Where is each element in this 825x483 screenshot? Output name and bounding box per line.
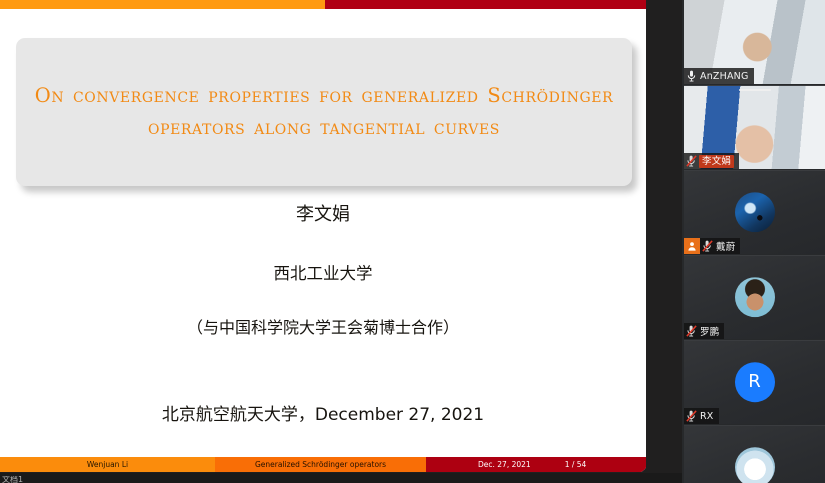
participant-name: 罗鹏 <box>699 324 719 338</box>
top-bar-red-segment <box>325 0 646 9</box>
slide-footline: Wenjuan Li Generalized Schrödinger opera… <box>0 457 646 472</box>
slide-affiliation: 西北工业大学 <box>0 260 646 284</box>
avatar <box>735 277 775 317</box>
participant-name: 戴蔚 <box>715 239 735 253</box>
participant-name-badge: 罗鹏 <box>684 323 724 339</box>
footline-date-page: Dec. 27, 2021 1 / 54 <box>426 457 646 472</box>
page-title: On convergence properties for generalize… <box>30 80 618 143</box>
slide-top-gap <box>0 9 646 12</box>
presentation-slide[interactable]: On convergence properties for generalize… <box>0 0 646 472</box>
avatar: R <box>735 362 775 402</box>
microphone-muted-icon <box>684 153 699 169</box>
microphone-icon <box>684 68 699 84</box>
taskbar-clipped-label: 文档1 <box>2 476 88 483</box>
participant-name: 李文娟 <box>699 155 734 168</box>
slide-body: 李文娟 西北工业大学 （与中国科学院大学王会菊博士合作） 北京航空航天大学，De… <box>0 200 646 425</box>
slide-top-decoration <box>0 0 646 9</box>
slide-collaboration-note: （与中国科学院大学王会菊博士合作） <box>0 314 646 338</box>
participant-filmstrip[interactable]: AnZHANG 李文娟 <box>682 0 825 483</box>
footline-author: Wenjuan Li <box>0 457 215 472</box>
participant-name-badge: 戴蔚 <box>684 238 740 254</box>
avatar <box>735 447 775 483</box>
active-speaker-indicator <box>739 89 771 91</box>
participant-name-badge: RX <box>684 408 719 424</box>
microphone-muted-icon <box>684 408 699 424</box>
avatar <box>735 192 775 232</box>
participant-tile[interactable]: R RX <box>684 340 825 424</box>
shared-screen-region[interactable]: On convergence properties for generalize… <box>0 0 648 473</box>
footline-page-number: 1 / 54 <box>565 460 587 469</box>
participant-name: AnZHANG <box>699 71 749 82</box>
slide-title-box: On convergence properties for generalize… <box>16 38 632 186</box>
participant-tile[interactable] <box>684 425 825 483</box>
participant-tile[interactable]: 罗鹏 <box>684 255 825 339</box>
slide-venue-date: 北京航空航天大学，December 27, 2021 <box>0 400 646 425</box>
slide-author: 李文娟 <box>0 200 646 226</box>
microphone-muted-icon <box>700 238 715 254</box>
participant-tile[interactable]: 戴蔚 <box>684 170 825 254</box>
host-person-icon <box>684 238 700 254</box>
footline-date: Dec. 27, 2021 <box>478 460 531 469</box>
participant-tile[interactable]: 李文娟 <box>684 85 825 169</box>
desktop-taskbar-strip: 文档1 <box>0 473 682 483</box>
top-bar-orange-segment <box>0 0 325 9</box>
footline-short-title: Generalized Schrödinger operators <box>215 457 426 472</box>
meeting-window: On convergence properties for generalize… <box>0 0 825 483</box>
participant-name-badge: AnZHANG <box>684 68 754 84</box>
microphone-muted-icon <box>684 323 699 339</box>
participant-name: RX <box>699 411 714 422</box>
participant-name-badge: 李文娟 <box>684 153 739 169</box>
participant-tile[interactable]: AnZHANG <box>684 0 825 84</box>
